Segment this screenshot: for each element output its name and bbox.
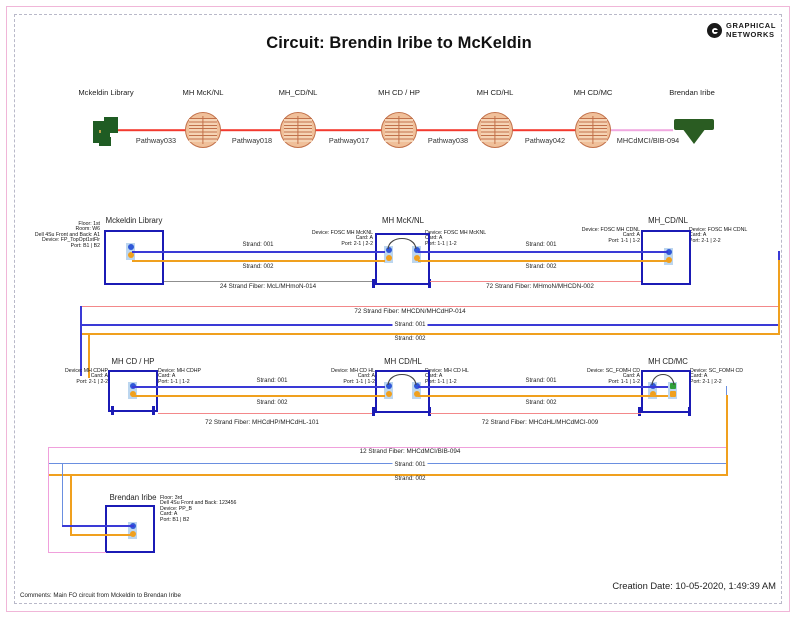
wire-orange-bottomlink-drop <box>726 395 728 475</box>
row2-site3-left-meta: Device: SC_FOMH CD Card: A Port: 1-1 | 1… <box>578 369 640 385</box>
meta-line: Port: 1-1 | 1-2 <box>425 242 497 247</box>
meta-line: Port: 2-1 | 2-2 <box>50 380 108 385</box>
box-tick <box>372 407 375 416</box>
meta-line: Port: 1-1 | 1-2 <box>320 380 375 385</box>
row2-site1-left-meta: Device: MH CDHP Card: A Port: 2-1 | 2-2 <box>50 369 108 385</box>
wire-orange-row2-right <box>418 395 668 397</box>
wire-red-midlink-top <box>80 306 780 307</box>
jumper-arc-mhmcknl <box>384 232 420 250</box>
row2-right-strand1: Strand: 001 <box>523 378 558 384</box>
wire-orange-midlink-drop <box>778 260 780 334</box>
row2-site2-title: MH CD/HL <box>384 357 422 366</box>
wire-orange-row1-right <box>418 260 668 262</box>
row2-site1-right-meta: Device: MH CDHP Card: A Port: 1-1 | 1-2 <box>158 369 220 385</box>
meta-line: Port: 1-1 | 1-2 <box>158 380 220 385</box>
meta-line: Port: 2-1 | 2-2 <box>305 242 373 247</box>
row1-site2-left-meta: Device: FOSC MH McKNL Card: A Port: 2-1 … <box>305 231 373 247</box>
row2-site2-right-meta: Device: MH CD HL Card: A Port: 1-1 | 1-2 <box>425 369 485 385</box>
row1-site1-meta: Floor: 1st Room: W6 Dell 4Su Front and B… <box>22 222 100 249</box>
wire-gray-row1-left <box>164 281 372 282</box>
row1-site3-title: MH_CD/NL <box>648 216 688 225</box>
box-tick <box>428 407 431 416</box>
row1-right-fiber: 72 Strand Fiber: MHmoN/MHCDN-002 <box>484 283 596 290</box>
wire-pink-bottomlink-leftdrop <box>48 447 49 552</box>
row1-right-strand1: Strand: 001 <box>523 242 558 248</box>
wire-blue-row1-right <box>418 251 668 253</box>
meta-line: Port: 2-1 | 2-2 <box>690 380 756 385</box>
wire-red-row1-right <box>430 281 641 282</box>
creation-date-text: Creation Date: 10-05-2020, 1:49:39 AM <box>612 580 776 591</box>
row1-left-strand2: Strand: 002 <box>240 264 275 270</box>
wire-orange-bottomlink <box>48 474 728 476</box>
wire-blue-row1-left <box>132 251 385 253</box>
row1-left-fiber: 24 Strand Fiber: McL/MHmoN-014 <box>218 283 318 290</box>
row2-left-fiber: 72 Strand Fiber: MHCdHP/MHCdHL-101 <box>203 419 321 426</box>
meta-line: Port: 1-1 | 1-2 <box>572 239 640 244</box>
wire-ltblue-bottomlink-leftdrop <box>62 463 63 525</box>
box-tick <box>372 279 375 288</box>
wire-pink-row3 <box>48 552 106 553</box>
meta-line: Port: 2-1 | 2-2 <box>689 239 761 244</box>
row1-site3-left-meta: Device: FOSC MH CDNL Card: A Port: 1-1 |… <box>572 228 640 244</box>
box-tick <box>638 407 641 416</box>
row1-site3-right-meta: Device: FOSC MH CDNL Card: A Port: 2-1 |… <box>689 228 761 244</box>
row3-site-meta: Floor: 3rd Dell 4Su Front and Back: 1234… <box>160 496 270 523</box>
row2-site3-right-meta: Device: SC_FOMH CD Card: A Port: 2-1 | 2… <box>690 369 756 385</box>
row1-site2-right-meta: Device: FOSC MH McKNL Card: A Port: 1-1 … <box>425 231 497 247</box>
wire-red-row2-left <box>158 413 372 414</box>
wire-red-row2-right <box>430 413 641 414</box>
meta-line: Port: B1 | B2 <box>160 518 270 523</box>
bottomlink-strand1: Strand: 001 <box>392 462 427 468</box>
row2-site1-title: MH CD / HP <box>112 357 155 366</box>
wire-blue-row2-left <box>132 386 385 388</box>
row1-left-strand1: Strand: 001 <box>240 242 275 248</box>
row2-left-strand1: Strand: 001 <box>254 378 289 384</box>
midlink-strand1: Strand: 001 <box>392 322 427 328</box>
row1-site2-title: MH McK/NL <box>382 216 424 225</box>
box-tick <box>111 406 114 415</box>
meta-line: Port: 1-1 | 1-2 <box>578 380 640 385</box>
wire-blue-row3 <box>62 525 134 527</box>
meta-line: Port: 1-1 | 1-2 <box>425 380 485 385</box>
row2-right-fiber: 72 Strand Fiber: MHCdHL/MHCdMCI-009 <box>480 419 601 426</box>
wire-orange-row2-left <box>132 395 385 397</box>
circuit-diagram-page: Circuit: Brendin Iribe to McKeldin GRAPH… <box>0 0 798 619</box>
row2-site2-left-meta: Device: MH CD HL Card: A Port: 1-1 | 1-2 <box>320 369 375 385</box>
bottomlink-strand2: Strand: 002 <box>392 476 427 482</box>
wire-orange-row3 <box>70 534 134 536</box>
jumper-arc-mhcdmc <box>648 368 678 386</box>
wire-blue-row2-right <box>418 386 668 388</box>
row1-site1-title: Mckeldin Library <box>106 216 163 225</box>
wire-orange-row1-left <box>132 260 385 262</box>
row2-right-strand2: Strand: 002 <box>523 400 558 406</box>
wire-blue-midlink <box>80 324 780 326</box>
comments-text: Comments: Main FO circuit from Mckeldin … <box>20 592 181 599</box>
jumper-arc-mhcdhl <box>384 368 420 386</box>
box-tick <box>152 406 155 415</box>
midlink-strand2: Strand: 002 <box>392 336 427 342</box>
row2-site3-title: MH CD/MC <box>648 357 688 366</box>
box-tick <box>688 407 691 416</box>
wire-ltblue-bottomlink <box>48 463 728 464</box>
wire-blue-midlink-leftdrop <box>80 306 82 376</box>
row2-left-strand2: Strand: 002 <box>254 400 289 406</box>
bottomlink-fiber: 12 Strand Fiber: MHCdMCI/BIB-094 <box>358 448 463 455</box>
wire-orange-midlink <box>80 333 780 335</box>
detailed-circuit-diagram: Mckeldin Library Floor: 1st Room: W6 Del… <box>0 0 798 619</box>
row3-site-title: Brendan Iribe <box>110 493 157 502</box>
meta-line: Port: B1 | B2 <box>22 244 100 249</box>
row1-right-strand2: Strand: 002 <box>523 264 558 270</box>
midlink-fiber: 72 Strand Fiber: MHCDN/MHCdHP-014 <box>352 308 467 315</box>
